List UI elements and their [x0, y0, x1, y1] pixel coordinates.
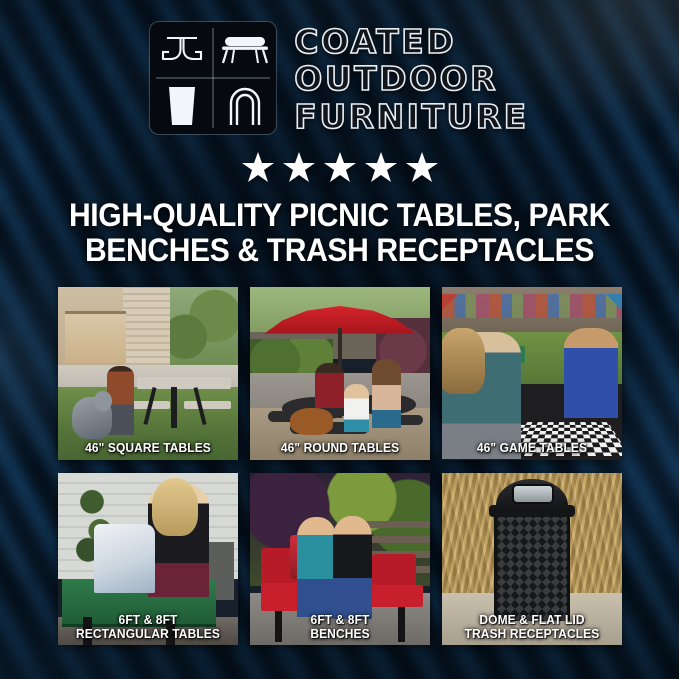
product-label: 46" SQUARE TABLES: [62, 442, 235, 456]
product-grid: 46" SQUARE TABLES: [58, 287, 622, 645]
star-icon: [324, 152, 356, 183]
product-label: 46" GAME TABLES: [446, 442, 619, 456]
star-rating: [0, 152, 679, 183]
product-tile-trash-receptacles[interactable]: DOME & FLAT LID TRASH RECEPTACLES: [442, 473, 622, 646]
star-icon: [242, 152, 274, 183]
product-label: 6FT & 8FT BENCHES: [254, 614, 427, 641]
star-icon: [365, 152, 397, 183]
headline-line-2: BENCHES & TRASH RECEPTACLES: [20, 233, 658, 268]
brand-logo: COATED OUTDOOR FURNITURE: [0, 22, 679, 134]
product-label: 6FT & 8FT RECTANGULAR TABLES: [62, 614, 235, 641]
page-title: HIGH-QUALITY PICNIC TABLES, PARK BENCHES…: [20, 198, 658, 267]
star-icon: [406, 152, 438, 183]
product-photo-round-tables: [250, 287, 430, 460]
promo-banner: COATED OUTDOOR FURNITURE HIGH-QUALITY PI…: [0, 0, 679, 679]
product-tile-square-tables[interactable]: 46" SQUARE TABLES: [58, 287, 238, 460]
picnic-table-icon: [150, 22, 213, 78]
logo-icon-grid: [150, 22, 276, 134]
product-photo-square-tables: [58, 287, 238, 460]
red-park-bench: [369, 585, 423, 607]
brand-word-coated: COATED: [294, 24, 528, 59]
park-bench-icon: [213, 22, 276, 78]
trash-receptacle-icon: [150, 78, 213, 134]
product-label: DOME & FLAT LID TRASH RECEPTACLES: [446, 614, 619, 641]
product-tile-game-tables[interactable]: 46" GAME TABLES: [442, 287, 622, 460]
product-label: 46" ROUND TABLES: [254, 442, 427, 456]
product-tile-round-tables[interactable]: 46" ROUND TABLES: [250, 287, 430, 460]
product-tile-rectangular-tables[interactable]: 6FT & 8FT RECTANGULAR TABLES: [58, 473, 238, 646]
headline-line-1: HIGH-QUALITY PICNIC TABLES, PARK: [20, 198, 658, 233]
product-photo-game-tables: [442, 287, 622, 460]
star-icon: [283, 152, 315, 183]
mesh-trash-can-body: [494, 510, 570, 620]
brand-word-outdoor: OUTDOOR: [294, 61, 528, 96]
product-tile-benches[interactable]: 6FT & 8FT BENCHES: [250, 473, 430, 646]
brand-wordmark: COATED OUTDOOR FURNITURE: [294, 22, 528, 134]
bike-rack-icon: [213, 78, 276, 134]
brand-word-furniture: FURNITURE: [294, 99, 528, 134]
